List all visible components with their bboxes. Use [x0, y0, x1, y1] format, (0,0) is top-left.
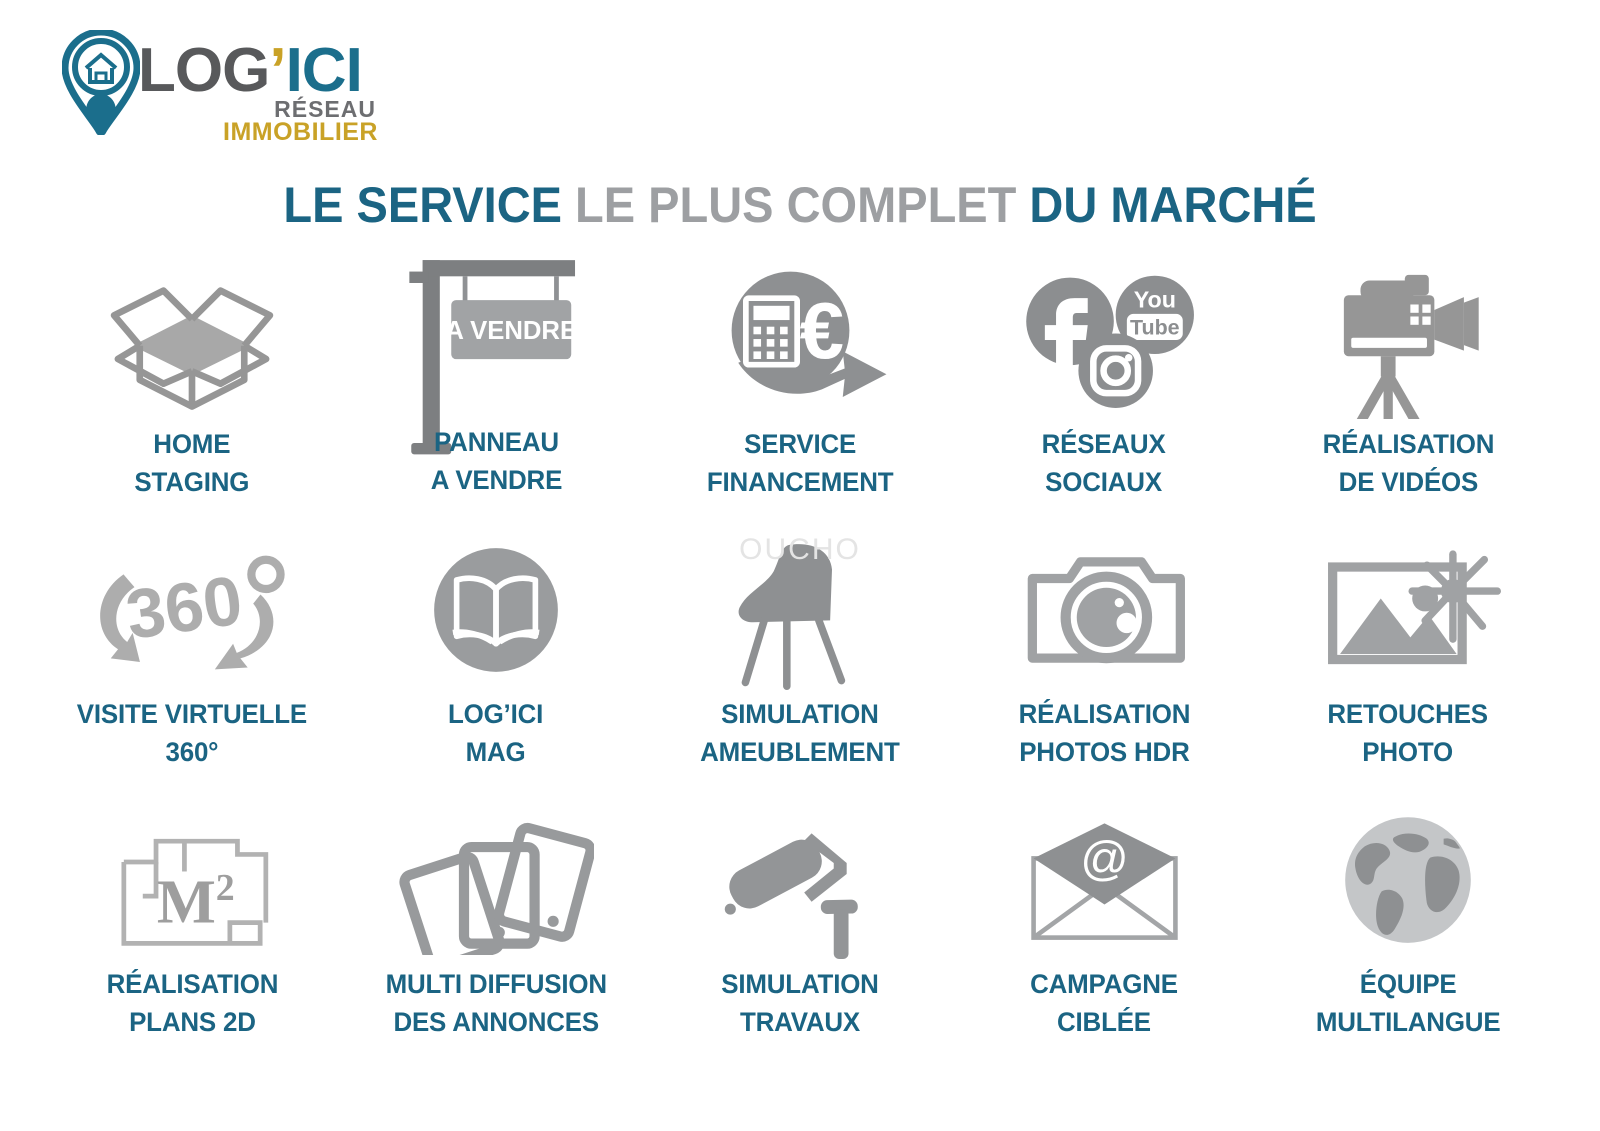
- service-label-line2: DE VIDÉOS: [1338, 467, 1477, 497]
- open-book-circle-icon: [391, 525, 601, 695]
- service-label-line2: FINANCEMENT: [707, 467, 894, 497]
- service-item-retouches-photo[interactable]: RETOUCHESPHOTO: [1256, 525, 1560, 795]
- euro-calculator-icon: €: [695, 255, 905, 425]
- logo-tagline-immobilier: IMMOBILIER: [223, 120, 378, 145]
- picture-sparkle-icon: [1303, 525, 1513, 695]
- service-label-line1: MULTI DIFFUSION: [385, 969, 606, 999]
- page-title: LE SERVICE LE PLUS COMPLET DU MARCHÉ: [48, 176, 1552, 234]
- service-item-logici-mag[interactable]: LOG’ICIMAG: [344, 525, 648, 795]
- service-label-line1: PANNEAU: [434, 427, 559, 457]
- service-label-line1: RÉALISATION: [1322, 429, 1494, 459]
- service-label-line2: 360°: [166, 737, 219, 767]
- title-part-2: LE PLUS COMPLET: [575, 177, 1029, 233]
- service-item-realisation-photos-hdr[interactable]: RÉALISATIONPHOTOS HDR: [952, 525, 1256, 795]
- service-label-line2: PHOTO: [1363, 737, 1454, 767]
- service-item-simulation-travaux[interactable]: SIMULATIONTRAVAUX: [648, 795, 952, 1065]
- service-label-line1: LOG’ICI: [448, 699, 543, 729]
- title-part-3: DU MARCHÉ: [1029, 177, 1316, 233]
- video-camera-tripod-icon: [1303, 255, 1513, 425]
- sign-text: A VENDRE: [445, 317, 577, 345]
- service-label-line2: PHOTOS HDR: [1019, 737, 1189, 767]
- floorplan-m2-icon: M2: [87, 795, 297, 965]
- service-label-line1: SIMULATION: [721, 969, 878, 999]
- service-item-simulation-ameublement[interactable]: OUCHO SIMULATIONAMEUBLEMENT: [648, 525, 952, 795]
- chair-icon: OUCHO: [695, 525, 905, 695]
- logo-word-ici: ICI: [286, 36, 362, 105]
- instagram-icon: [1078, 333, 1153, 408]
- service-label-line1: RÉSEAUX: [1042, 429, 1166, 459]
- service-label-line1: SIMULATION: [721, 699, 878, 729]
- social-networks-icon: You Tube: [999, 255, 1209, 425]
- service-label-line1: CAMPAGNE: [1030, 969, 1178, 999]
- service-item-realisation-plans-2d[interactable]: M2 RÉALISATIONPLANS 2D: [40, 795, 344, 1065]
- logo-word-log: LOG: [138, 36, 269, 105]
- service-label-line1: RÉALISATION: [106, 969, 278, 999]
- svg-text:M2: M2: [157, 867, 235, 937]
- virtual-tour-360-icon: 360: [87, 525, 297, 695]
- open-box-icon: [87, 255, 297, 425]
- svg-text:@: @: [1080, 832, 1129, 885]
- services-grid: HOMESTAGING A VENDRE PANNEAUA VENDRE: [40, 255, 1560, 1065]
- paint-roller-icon: [695, 795, 905, 965]
- service-label-line2: DES ANNONCES: [393, 1007, 599, 1037]
- photo-camera-icon: [999, 525, 1209, 695]
- service-label-line1: RÉALISATION: [1018, 699, 1190, 729]
- globe-icon: [1303, 795, 1513, 965]
- multi-devices-icon: [391, 795, 601, 965]
- service-label-line1: ÉQUIPE: [1360, 969, 1457, 999]
- svg-text:€: €: [800, 286, 844, 375]
- service-label-line2: SOCIAUX: [1046, 467, 1163, 497]
- service-label-line1: VISITE VIRTUELLE: [77, 699, 307, 729]
- service-item-equipe-multilangue[interactable]: ÉQUIPEMULTILANGUE: [1256, 795, 1560, 1065]
- service-item-realisation-videos[interactable]: RÉALISATIONDE VIDÉOS: [1256, 255, 1560, 525]
- service-label-line2: TRAVAUX: [740, 1007, 860, 1037]
- service-label-line1: HOME: [153, 429, 230, 459]
- service-item-campagne-ciblee[interactable]: @ CAMPAGNECIBLÉE: [952, 795, 1256, 1065]
- logo-apostrophe: ’: [269, 36, 285, 105]
- service-item-panneau-a-vendre[interactable]: A VENDRE PANNEAUA VENDRE: [344, 255, 648, 525]
- service-label-line2: AMEUBLEMENT: [700, 737, 899, 767]
- title-part-1: LE SERVICE: [283, 177, 575, 233]
- service-label-line2: STAGING: [135, 467, 250, 497]
- service-label-line2: MULTILANGUE: [1316, 1007, 1501, 1037]
- service-item-reseaux-sociaux[interactable]: You Tube RÉSEAUXSOCIAUX: [952, 255, 1256, 525]
- map-pin-house-icon: [62, 30, 140, 135]
- service-label-line2: A VENDRE: [430, 465, 561, 495]
- svg-text:Tube: Tube: [1130, 315, 1180, 339]
- service-label-line1: RETOUCHES: [1328, 699, 1489, 729]
- service-item-service-financement[interactable]: € SERVICEFINANCEMENT: [648, 255, 952, 525]
- service-item-visite-virtuelle-360[interactable]: 360 VISITE VIRTUELLE360°: [40, 525, 344, 795]
- service-label-line2: MAG: [466, 737, 526, 767]
- svg-text:360: 360: [121, 561, 246, 654]
- service-item-multi-diffusion[interactable]: MULTI DIFFUSIONDES ANNONCES: [344, 795, 648, 1065]
- brand-logo: LOG’ICI RÉSEAU IMMOBILIER: [30, 22, 370, 142]
- service-label-line2: CIBLÉE: [1057, 1007, 1151, 1037]
- envelope-at-icon: @: [999, 795, 1209, 965]
- service-label-line1: SERVICE: [744, 429, 856, 459]
- svg-text:You: You: [1133, 286, 1175, 312]
- service-label-line2: PLANS 2D: [129, 1007, 256, 1037]
- service-item-home-staging[interactable]: HOMESTAGING: [40, 255, 344, 525]
